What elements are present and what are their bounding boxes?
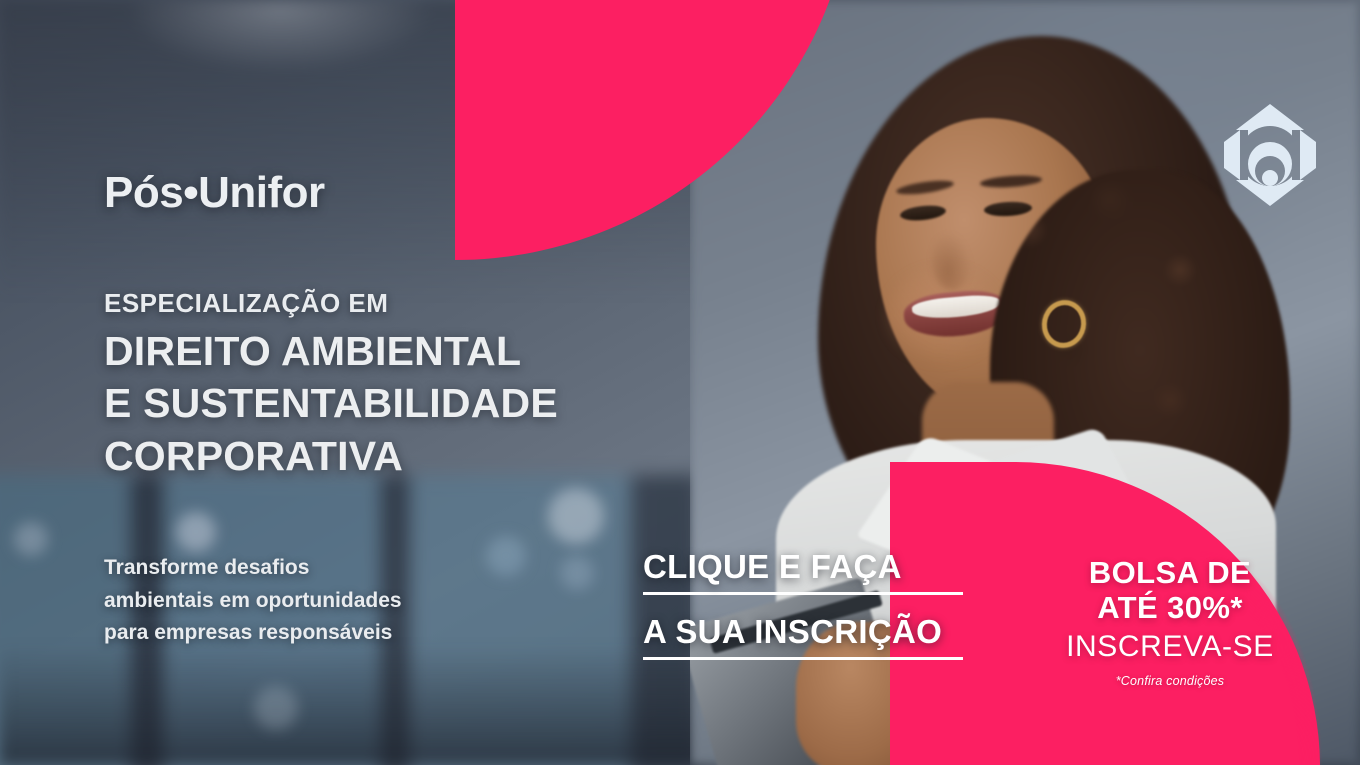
course-type-label: ESPECIALIZAÇÃO EM: [104, 288, 704, 319]
promo-banner: Pós•Unifor ESPECIALIZAÇÃO EM DIREITO AMB…: [0, 0, 1360, 765]
cta-line-1[interactable]: CLIQUE E FAÇA: [643, 548, 963, 595]
unifor-arrow-arcs-logo-icon: [1214, 100, 1326, 210]
course-title-line-1: DIREITO AMBIENTAL: [104, 325, 704, 377]
badge-conditions-note: *Confira condições: [1020, 674, 1320, 688]
badge-enroll-label[interactable]: INSCREVA-SE: [1020, 627, 1320, 666]
nose: [932, 232, 972, 290]
scholarship-badge[interactable]: BOLSA DE ATÉ 30%* INSCREVA-SE *Confira c…: [1020, 556, 1320, 688]
badge-line-1: BOLSA DE: [1020, 556, 1320, 591]
brand-wordmark: Pós•Unifor: [104, 168, 325, 218]
course-title-line-3: CORPORATIVA: [104, 430, 704, 482]
headline-block: ESPECIALIZAÇÃO EM DIREITO AMBIENTAL E SU…: [104, 288, 704, 482]
subtitle-line-2: ambientais em oportunidades: [104, 585, 504, 618]
course-title-line-2: E SUSTENTABILIDADE: [104, 377, 704, 429]
cta-line-2[interactable]: A SUA INSCRIÇÃO: [643, 613, 963, 660]
enroll-cta-link[interactable]: CLIQUE E FAÇA A SUA INSCRIÇÃO: [643, 548, 963, 660]
subtitle-line-1: Transforme desafios: [104, 552, 504, 585]
subtitle-block: Transforme desafios ambientais em oportu…: [104, 552, 504, 650]
subtitle-line-3: para empresas responsáveis: [104, 617, 504, 650]
badge-discount: ATÉ 30%*: [1020, 591, 1320, 626]
